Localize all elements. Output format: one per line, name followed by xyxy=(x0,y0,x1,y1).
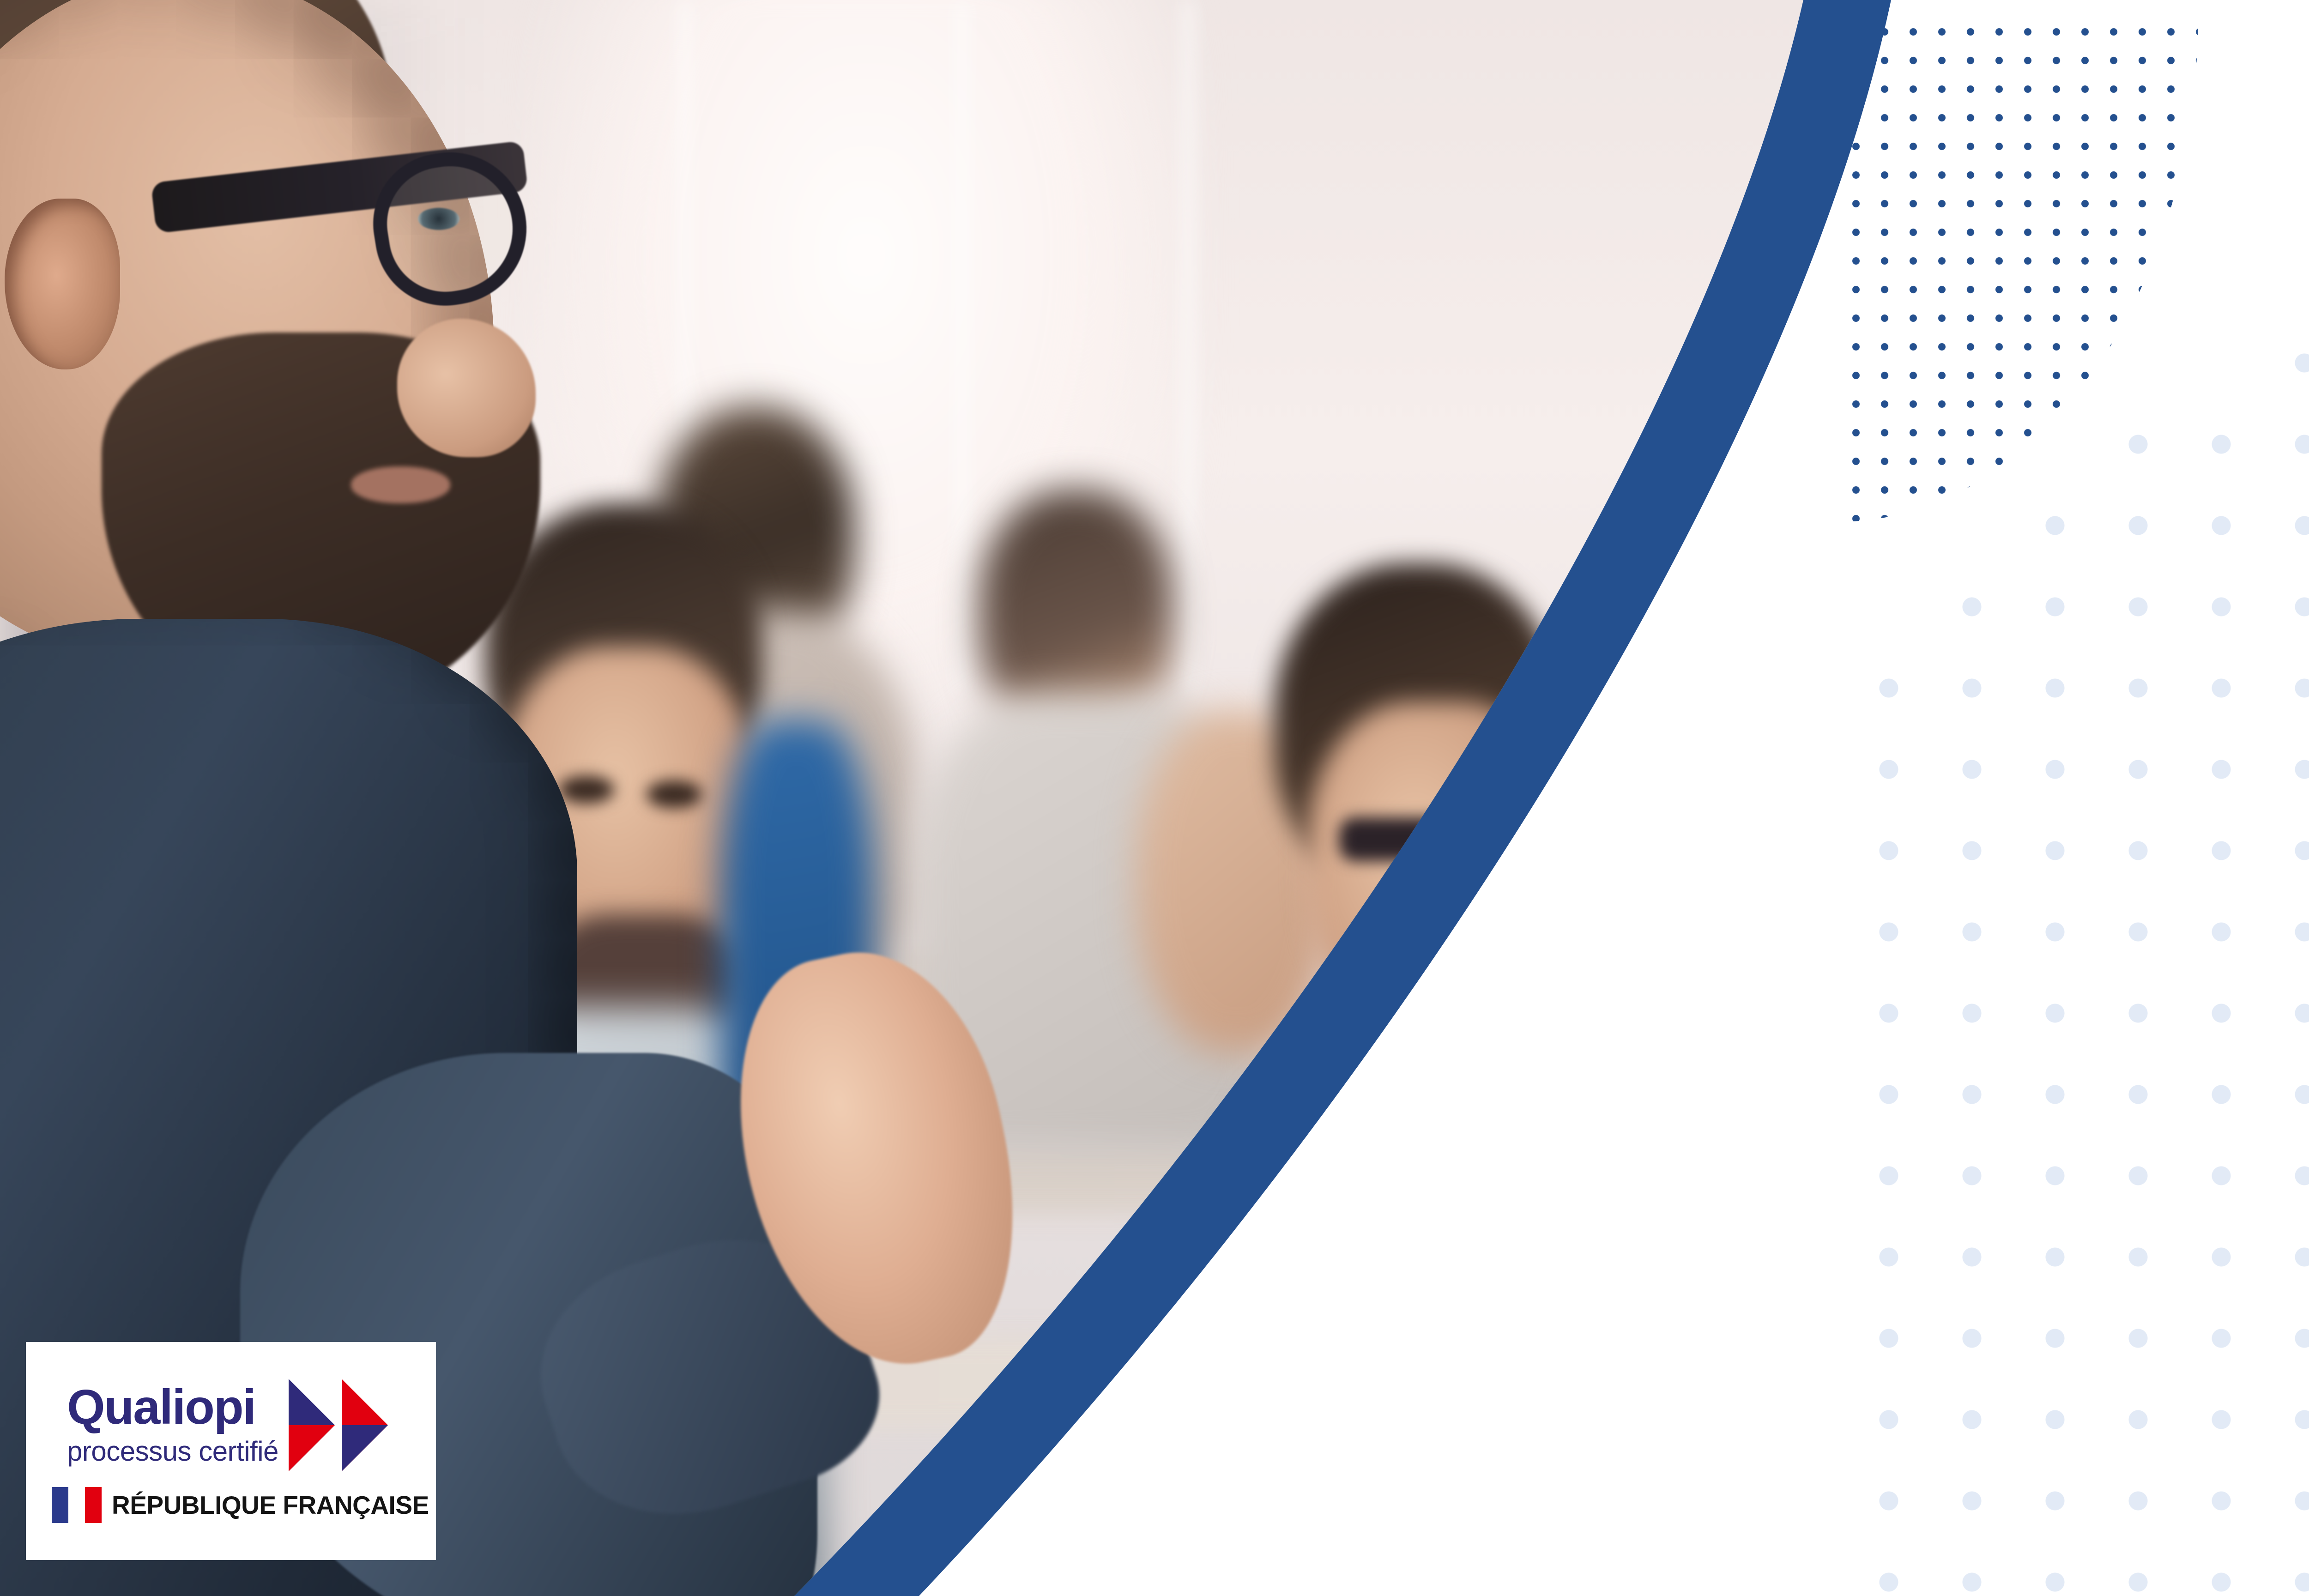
student-right-face xyxy=(1307,702,1566,1053)
qualiopi-tagline: processus certifié xyxy=(67,1435,278,1468)
window-mullion xyxy=(956,0,968,693)
student-front-eye xyxy=(559,776,614,804)
qualiopi-double-arrow-icon xyxy=(289,1379,395,1471)
qualiopi-logo-row: Qualiopi processus certifié xyxy=(67,1379,395,1471)
speaker-mouth xyxy=(351,466,450,503)
republique-francaise-text: RÉPUBLIQUE FRANÇAISE xyxy=(112,1490,429,1520)
republique-francaise-row: RÉPUBLIQUE FRANÇAISE xyxy=(52,1487,429,1523)
qualiopi-certification-badge: Qualiopi processus certifié RÉPUBLIQUE F… xyxy=(26,1342,436,1560)
student-right-glasses xyxy=(1339,817,1533,861)
formation-banner: FORMATIONS VDO En présentiel et à distan… xyxy=(0,0,2309,1596)
french-flag-icon xyxy=(52,1487,102,1523)
qualiopi-wordmark: Qualiopi processus certifié xyxy=(67,1382,278,1468)
student-front-eye xyxy=(647,780,702,808)
student-right-shirt xyxy=(1219,1044,1736,1596)
window-mullion xyxy=(1182,0,1194,693)
headline-block: FORMATIONS VDO En présentiel et à distan… xyxy=(1829,0,2309,1596)
speaker-eye xyxy=(418,208,459,230)
qualiopi-brand-text: Qualiopi xyxy=(67,1382,255,1432)
